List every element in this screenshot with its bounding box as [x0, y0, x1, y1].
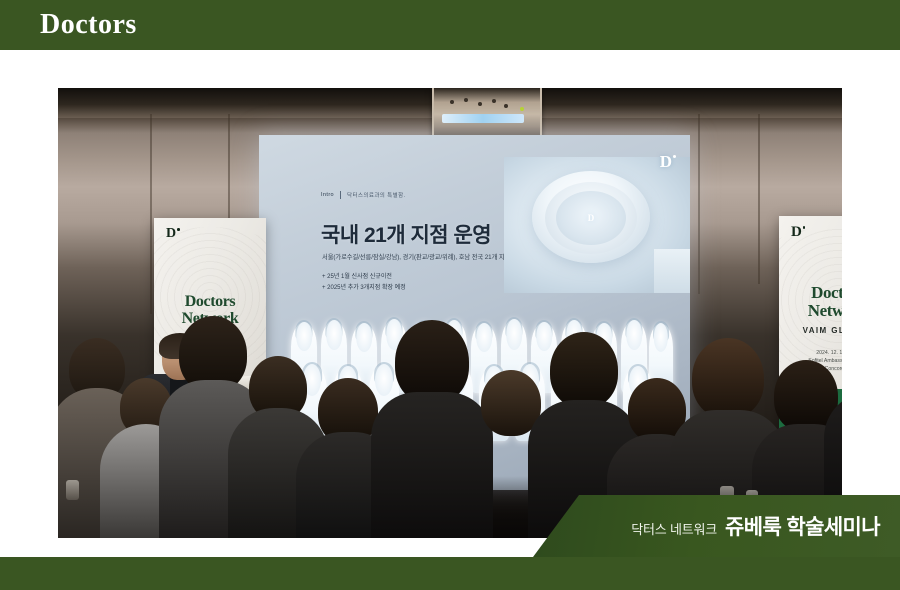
interior-wall-corner: [654, 249, 690, 293]
slide-eyebrow-divider: [340, 191, 341, 199]
banner-right-logo: D: [791, 224, 805, 241]
slide-bullet-1: + 25년 1월 신사점 신규이전: [322, 272, 406, 283]
slide-title: 국내 21개 지점 운영: [321, 219, 491, 249]
footer-band: [0, 557, 900, 590]
caption-text: 닥터스 네트워크 쥬베룩 학술세미나: [631, 511, 880, 541]
ceiling-ring-outer: D: [532, 171, 650, 263]
projector-lens: [442, 114, 524, 123]
banner-right-meta-1: 2024. 12. 14.(SAT): [779, 349, 842, 357]
ceiling-projector: [432, 88, 542, 138]
banner-right-subtitle: VAIM GLOBAL: [779, 326, 842, 335]
slide-eyebrow-label: Intro: [321, 192, 334, 198]
slide-bullets: + 25년 1월 신사점 신규이전 + 2025년 추가 3개지점 확장 예정: [322, 272, 406, 294]
banner-right-title: Doctors Network: [779, 284, 842, 319]
wall-seam: [150, 114, 152, 314]
header-band: Doctors: [0, 0, 900, 50]
page-root: Doctors Intro 닥터스의료과의 특별함.: [0, 0, 900, 590]
wall-seam: [698, 114, 700, 294]
wall-seam: [758, 114, 760, 284]
banner-right-title-line1: Doctors: [779, 284, 842, 302]
slide-logo-letter: D: [660, 152, 672, 171]
slide-eyebrow: Intro 닥터스의료과의 특별함.: [321, 191, 405, 199]
slide-subtitle: 서울(가로수길/선릉/잠실/강남), 경기(판교/광교/위례), 호남 전국 2…: [322, 252, 510, 261]
caption-main: 쥬베룩 학술세미나: [725, 511, 880, 541]
page-title: Doctors: [40, 9, 137, 41]
ceiling-ring-mid: D: [545, 182, 637, 254]
caption-prefix: 닥터스 네트워크: [631, 519, 717, 538]
caption-ribbon: 닥터스 네트워크 쥬베룩 학술세미나: [533, 495, 900, 557]
slide-logo-dot: [673, 155, 676, 158]
banner-right-title-line2: Network: [779, 302, 842, 320]
seminar-photo: Intro 닥터스의료과의 특별함. 국내 21개 지점 운영 서울(가로수길/…: [58, 88, 842, 538]
slide-interior-photo: D: [504, 157, 690, 293]
slide-eyebrow-kr: 닥터스의료과의 특별함.: [347, 191, 405, 199]
ceiling-ring-inner: D: [556, 191, 626, 245]
slide-logo: D: [660, 153, 676, 170]
slide-bullet-2: + 2025년 추가 3개지점 확장 예정: [322, 283, 406, 294]
ceiling-logo: D: [588, 213, 595, 223]
banner-left-title-line1: Doctors: [154, 294, 266, 311]
table-glass: [66, 480, 79, 500]
banner-left-logo: D: [166, 226, 180, 242]
